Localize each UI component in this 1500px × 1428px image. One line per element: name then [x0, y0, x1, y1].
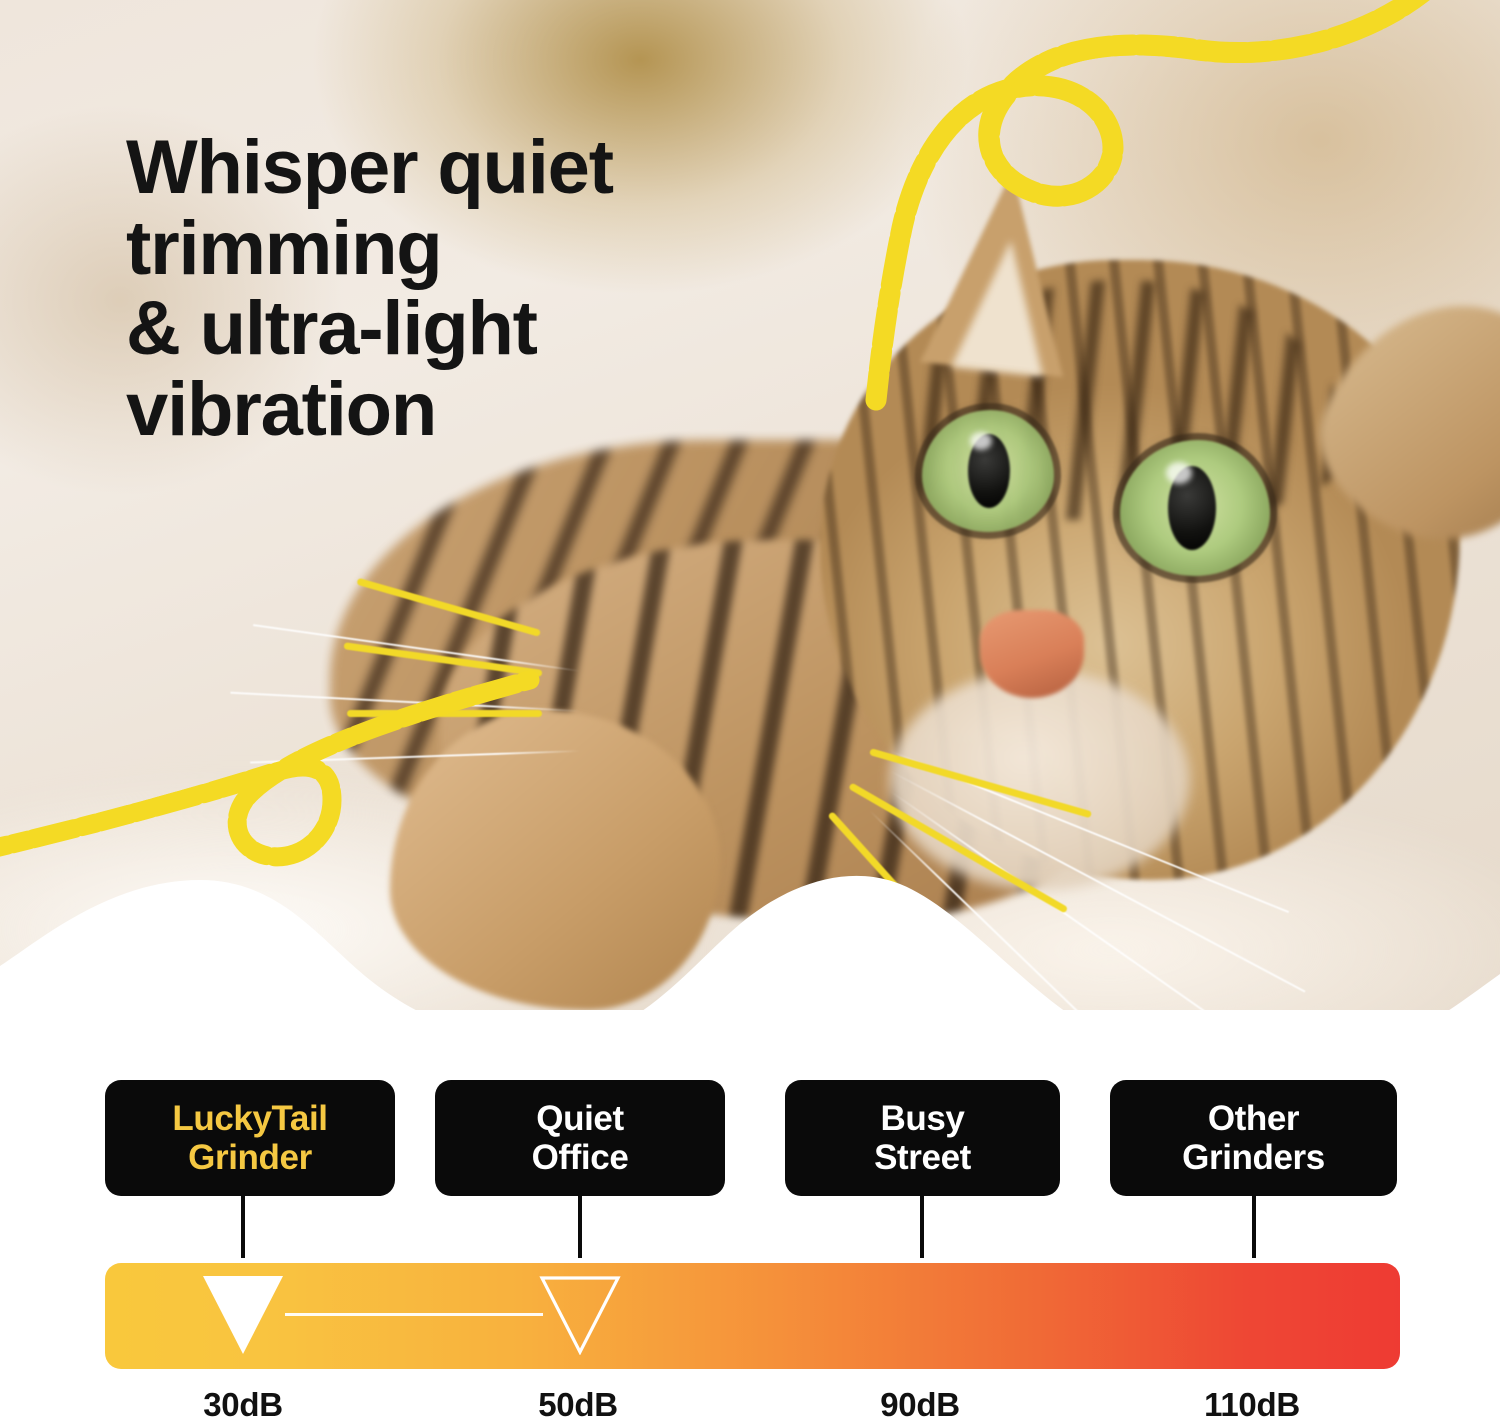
cat-nose — [980, 610, 1084, 698]
chart-label-busy-street[interactable]: Busy Street — [785, 1080, 1060, 1196]
cat-eye-glint-right — [1166, 462, 1192, 484]
page-title: Whisper quiet trimming & ultra-light vib… — [126, 128, 846, 450]
product-infographic: Whisper quiet trimming & ultra-light vib… — [0, 0, 1500, 1428]
cat-eye-glint-left — [970, 432, 992, 450]
marker-filled-triangle — [203, 1276, 283, 1354]
tick-label-90db: 90dB — [880, 1386, 960, 1424]
tick-label-50db: 50dB — [538, 1386, 618, 1424]
marker-connector — [285, 1313, 543, 1316]
noise-gradient-bar — [105, 1263, 1400, 1369]
hero-photo: Whisper quiet trimming & ultra-light vib… — [0, 0, 1500, 1010]
tick-label-30db: 30dB — [203, 1386, 283, 1424]
chart-connector-line — [578, 1196, 582, 1258]
chart-label-luckytail-grinder[interactable]: LuckyTail Grinder — [105, 1080, 395, 1196]
cat-muzzle — [890, 670, 1190, 890]
chart-connector-line — [1252, 1196, 1256, 1258]
chart-label-quiet-office[interactable]: Quiet Office — [435, 1080, 725, 1196]
highlighted-whisker — [347, 710, 542, 717]
marker-outline-triangle — [539, 1275, 621, 1355]
chart-label-other-grinders[interactable]: Other Grinders — [1110, 1080, 1397, 1196]
cat-ear-left-inner — [951, 236, 1056, 377]
chart-connector-line — [241, 1196, 245, 1258]
tick-label-110db: 110dB — [1204, 1386, 1300, 1424]
chart-connector-line — [920, 1196, 924, 1258]
